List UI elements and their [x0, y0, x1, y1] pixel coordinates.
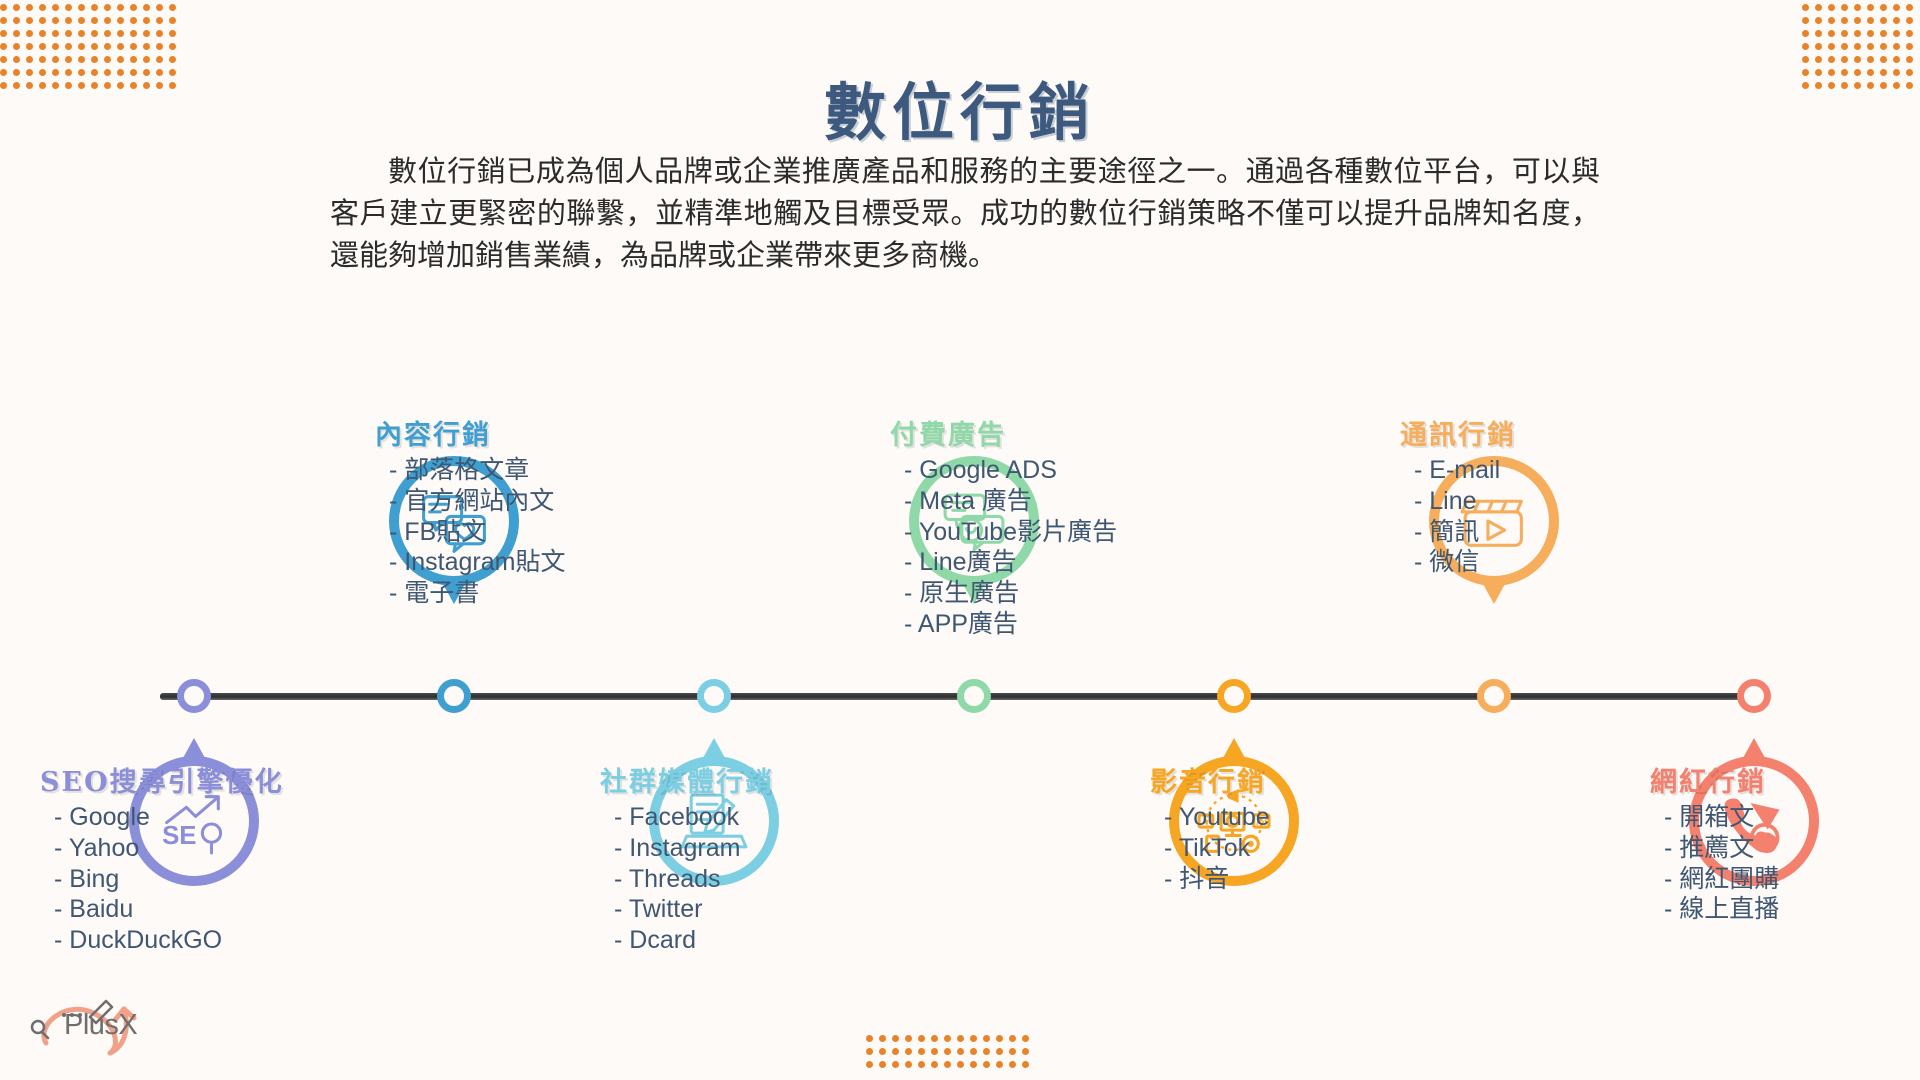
- timeline-node-content[interactable]: [437, 679, 471, 713]
- list-item: Dcard: [614, 925, 900, 956]
- list-item: 線上直播: [1664, 894, 1920, 925]
- timeline-node-seo[interactable]: [177, 679, 211, 713]
- block-list-influencer: 開箱文推薦文網紅團購線上直播: [1650, 802, 1920, 925]
- list-item: 推薦文: [1664, 833, 1920, 864]
- block-list-video: YoutubeTikTok抖音: [1150, 802, 1450, 894]
- list-item: Line: [1414, 486, 1700, 517]
- list-item: TikTok: [1164, 833, 1450, 864]
- list-item: 電子書: [389, 578, 675, 609]
- list-item: Threads: [614, 864, 900, 895]
- timeline-node-influencer[interactable]: [1737, 679, 1771, 713]
- list-item: 部落格文章: [389, 455, 675, 486]
- block-list-paid: Google ADSMeta 廣告YouTube影片廣告Line廣告原生廣告AP…: [890, 455, 1220, 640]
- plusx-logo: PlusX: [18, 985, 168, 1063]
- list-item: Baidu: [54, 894, 340, 925]
- list-item: APP廣告: [904, 609, 1220, 640]
- list-item: FB貼文: [389, 517, 675, 548]
- timeline-node-messaging[interactable]: [1477, 679, 1511, 713]
- block-heading-content: 內容行銷: [375, 413, 675, 452]
- list-item: Line廣告: [904, 547, 1220, 578]
- block-heading-paid: 付費廣告: [890, 413, 1220, 452]
- block-heading-messaging: 通訊行銷: [1400, 413, 1700, 452]
- list-item: Facebook: [614, 802, 900, 833]
- timeline-block-influencer: 網紅行銷開箱文推薦文網紅團購線上直播: [1650, 760, 1920, 925]
- list-item: 開箱文: [1664, 802, 1920, 833]
- block-heading-seo: SEO搜尋引擎優化: [40, 760, 340, 799]
- timeline-node-paid[interactable]: [957, 679, 991, 713]
- list-item: 微信: [1414, 547, 1700, 578]
- block-list-seo: GoogleYahooBingBaiduDuckDuckGO: [40, 802, 340, 956]
- block-heading-influencer: 網紅行銷: [1650, 760, 1920, 799]
- timeline-block-video: 影音行銷YoutubeTikTok抖音: [1150, 760, 1450, 894]
- block-heading-social: 社群媒體行銷: [600, 760, 900, 799]
- list-item: Google ADS: [904, 455, 1220, 486]
- logo-text: PlusX: [64, 1009, 137, 1042]
- list-item: 原生廣告: [904, 578, 1220, 609]
- page-title: 數位行銷: [0, 62, 1920, 152]
- list-item: DuckDuckGO: [54, 925, 340, 956]
- list-item: Twitter: [614, 894, 900, 925]
- list-item: Google: [54, 802, 340, 833]
- list-item: Bing: [54, 864, 340, 895]
- list-item: 網紅團購: [1664, 864, 1920, 895]
- timeline-node-video[interactable]: [1217, 679, 1251, 713]
- timeline-block-content: 內容行銷部落格文章官方網站內文FB貼文Instagram貼文電子書: [375, 413, 675, 609]
- block-heading-video: 影音行銷: [1150, 760, 1450, 799]
- timeline-block-social: 社群媒體行銷FacebookInstagramThreadsTwitterDca…: [600, 760, 900, 956]
- list-item: Instagram: [614, 833, 900, 864]
- list-item: 簡訊: [1414, 517, 1700, 548]
- list-item: Yahoo: [54, 833, 340, 864]
- timeline-node-social[interactable]: [697, 679, 731, 713]
- intro-paragraph: 數位行銷已成為個人品牌或企業推廣產品和服務的主要途徑之一。通過各種數位平台，可以…: [330, 150, 1600, 276]
- timeline-block-messaging: 通訊行銷E-mailLine簡訊微信: [1400, 413, 1700, 578]
- list-item: E-mail: [1414, 455, 1700, 486]
- list-item: 抖音: [1164, 864, 1450, 895]
- block-list-messaging: E-mailLine簡訊微信: [1400, 455, 1700, 578]
- list-item: Youtube: [1164, 802, 1450, 833]
- list-item: YouTube影片廣告: [904, 517, 1220, 548]
- infographic-canvas: 數位行銷 數位行銷已成為個人品牌或企業推廣產品和服務的主要途徑之一。通過各種數位…: [0, 0, 1920, 1080]
- list-item: Meta 廣告: [904, 486, 1220, 517]
- block-list-content: 部落格文章官方網站內文FB貼文Instagram貼文電子書: [375, 455, 675, 609]
- list-item: Instagram貼文: [389, 547, 675, 578]
- block-list-social: FacebookInstagramThreadsTwitterDcard: [600, 802, 900, 956]
- list-item: 官方網站內文: [389, 486, 675, 517]
- timeline-block-paid: 付費廣告Google ADSMeta 廣告YouTube影片廣告Line廣告原生…: [890, 413, 1220, 640]
- timeline-block-seo: SEO搜尋引擎優化GoogleYahooBingBaiduDuckDuckGO: [40, 760, 340, 956]
